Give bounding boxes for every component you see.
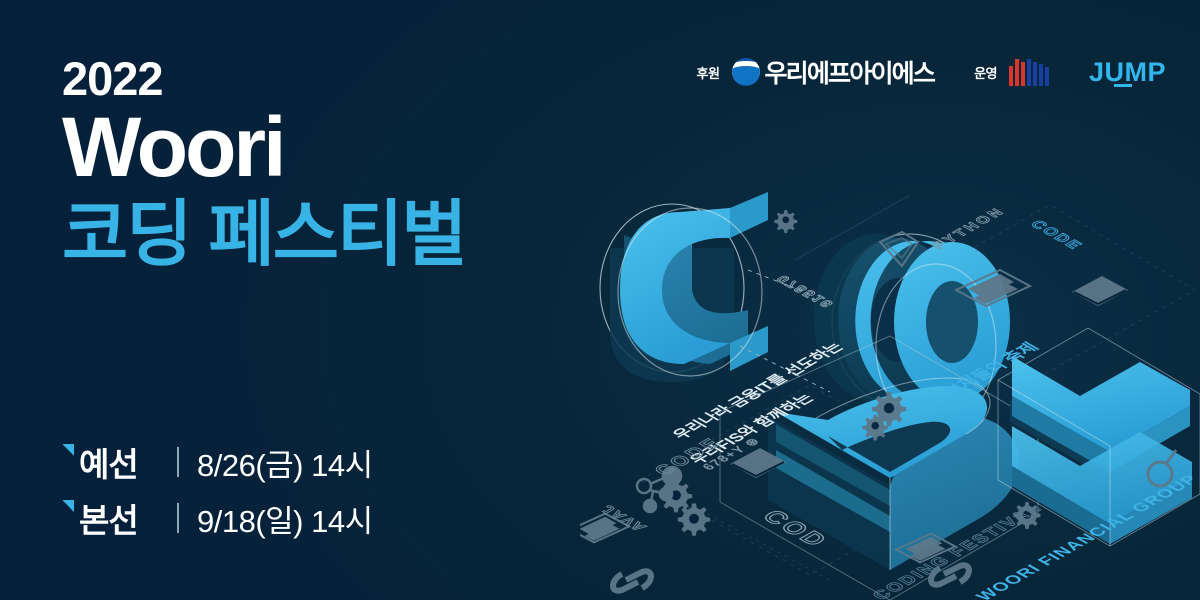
schedule-block: 예선 8/26(금) 14시 본선 9/18(일) 14시 xyxy=(62,434,373,546)
tick-marker-icon xyxy=(62,500,74,512)
jump-underline-icon xyxy=(1114,84,1132,87)
illustration-svg xyxy=(580,150,1200,600)
headline-year: 2022 xyxy=(62,54,465,103)
operation-sponsor-group: 운영 xyxy=(974,59,1049,86)
striped-bars-logo-icon xyxy=(1009,59,1049,86)
gear-icon xyxy=(774,210,797,233)
isometric-illustration: PYTHON CODE 078516 우리나라 금융IT를 선도하는 우리FIS… xyxy=(580,150,1200,600)
link-icon-2 xyxy=(613,571,651,590)
schedule-label: 본선 xyxy=(79,494,165,542)
schedule-row-preliminary: 예선 8/26(금) 14시 xyxy=(62,434,373,490)
server-icon-3 xyxy=(580,514,629,543)
jump-logo-text: JUMP xyxy=(1089,57,1166,87)
operation-label: 운영 xyxy=(974,63,997,82)
tick-marker-icon xyxy=(62,444,74,456)
schedule-row-final: 본선 9/18(일) 14시 xyxy=(62,490,373,546)
woori-circle-logo-icon xyxy=(732,58,760,86)
support-sponsor-group: 후원 우리에프아이에스 xyxy=(697,54,935,90)
jump-logo: JUMP xyxy=(1089,57,1166,88)
schedule-divider xyxy=(177,447,179,477)
schedule-value: 8/26(금) 14시 xyxy=(197,440,373,485)
poster-canvas: 후원 우리에프아이에스 운영 JUMP 2022 Woori 코딩 페스티벌 xyxy=(0,0,1200,600)
schedule-divider xyxy=(177,503,179,533)
schedule-label: 예선 xyxy=(79,438,165,486)
schedule-value: 9/18(일) 14시 xyxy=(197,496,373,541)
link-icon xyxy=(931,565,969,584)
envelope-icon xyxy=(1072,276,1128,306)
headline-block: 2022 Woori 코딩 페스티벌 xyxy=(62,54,465,276)
headline-title: 코딩 페스티벌 xyxy=(62,195,465,276)
gear-icon-3 xyxy=(1014,502,1041,529)
sponsor-bar: 후원 우리에프아이에스 운영 JUMP xyxy=(697,52,1166,92)
headline-brand: Woori xyxy=(62,105,465,189)
support-sponsor-name: 우리에프아이에스 xyxy=(764,54,934,90)
support-label: 후원 xyxy=(697,63,720,82)
